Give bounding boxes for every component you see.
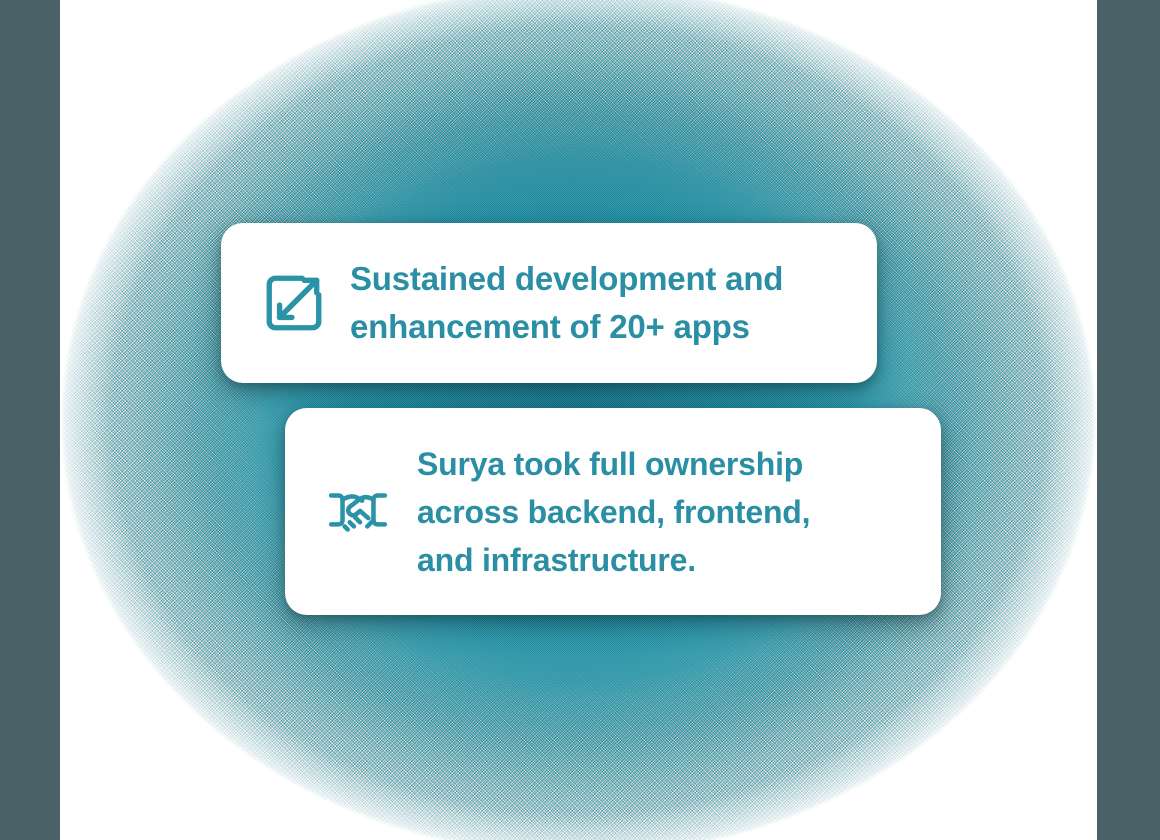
card-2-line-3: and infrastructure. <box>417 536 905 584</box>
card-2-line-1: Surya took full ownership <box>417 440 905 488</box>
expand-arrows-icon <box>261 270 327 336</box>
highlight-card-sustained-development[interactable]: Sustained development and enhancement of… <box>221 223 877 383</box>
card-2-text: Surya took full ownership across backend… <box>417 440 905 584</box>
handshake-icon <box>325 479 391 545</box>
highlight-card-full-ownership[interactable]: Surya took full ownership across backend… <box>285 408 941 615</box>
card-1-text: Sustained development and enhancement of… <box>350 255 841 351</box>
left-edge-bar <box>0 0 60 840</box>
slide-canvas: Sustained development and enhancement of… <box>0 0 1160 840</box>
card-1-line-2: enhancement of 20+ apps <box>350 303 841 351</box>
card-1-line-1: Sustained development and <box>350 255 841 303</box>
card-2-line-2: across backend, frontend, <box>417 488 905 536</box>
right-edge-bar <box>1097 0 1160 840</box>
